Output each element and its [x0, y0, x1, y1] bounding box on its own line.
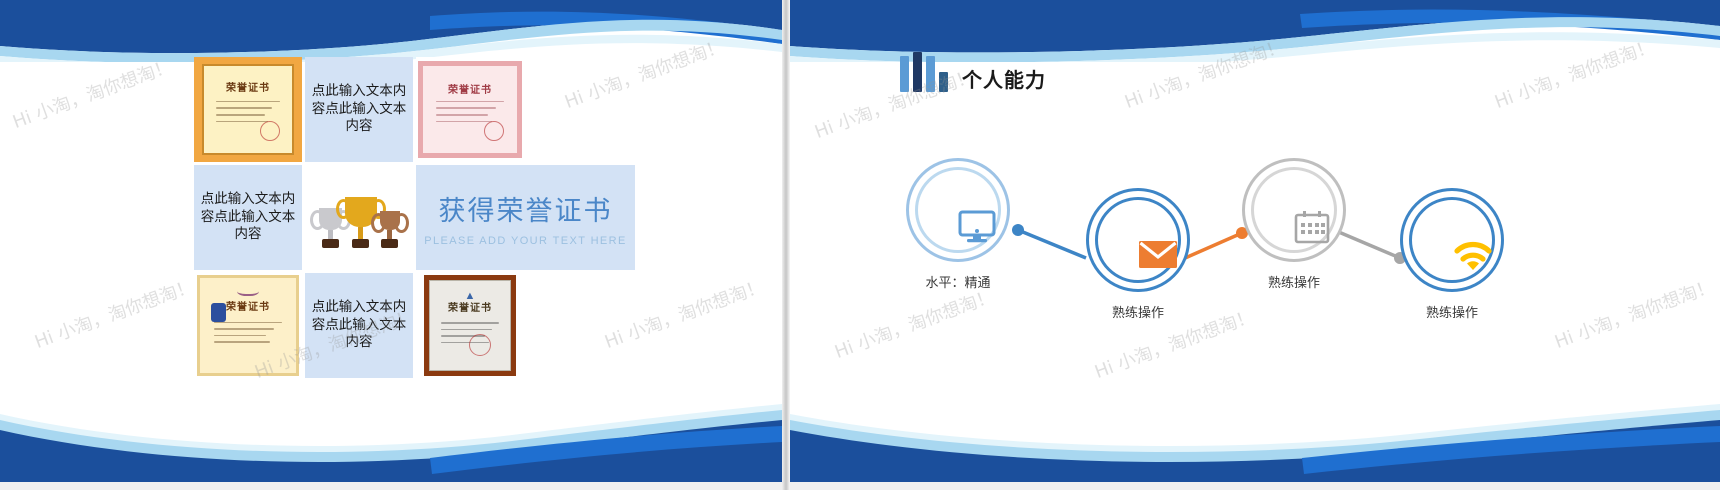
- top-wave-decoration: [0, 0, 782, 62]
- certificate-caption: 荣誉证书: [204, 79, 293, 94]
- bottom-wave-decoration: [790, 358, 1720, 490]
- section-header: 个人能力: [900, 52, 1046, 92]
- slide-personal-ability: 个人能力: [790, 0, 1720, 490]
- presentation-stage: 荣誉证书 点此输入文本内容点此输入文本内容 荣誉证书 点此输入文本内容点此输入文…: [0, 0, 1720, 490]
- slide-honor-certificates: 荣誉证书 点此输入文本内容点此输入文本内容 荣誉证书 点此输入文本内容点此输入文…: [0, 0, 782, 490]
- ability-node-monitor-label: 水平：精通: [886, 272, 1030, 291]
- text-placeholder-3-label: 点此输入文本内容点此输入文本内容: [311, 299, 407, 352]
- certificate-caption: 荣誉证书: [200, 298, 296, 313]
- text-placeholder-1[interactable]: 点此输入文本内容点此输入文本内容: [305, 57, 413, 162]
- ability-flow-diagram: 水平：精通 熟练操作: [790, 140, 1720, 370]
- trophy-bronze: [380, 211, 400, 248]
- bar-chart-icon: [900, 52, 948, 92]
- headline-block: 获得荣誉证书 PLEASE ADD YOUR TEXT HERE: [416, 165, 635, 270]
- certificate-pink: 荣誉证书: [416, 57, 524, 162]
- text-placeholder-1-label: 点此输入文本内容点此输入文本内容: [311, 83, 407, 136]
- ability-node-calendar-label: 熟练操作: [1222, 272, 1366, 291]
- headline-title: 获得荣誉证书: [439, 189, 613, 228]
- watermark: Hi 小淘，淘你想淘！: [31, 272, 198, 354]
- ability-node-wifi[interactable]: [1400, 188, 1504, 292]
- text-placeholder-2-label: 点此输入文本内容点此输入文本内容: [200, 191, 296, 244]
- watermark: Hi 小淘，淘你想淘！: [9, 52, 176, 134]
- text-placeholder-2[interactable]: 点此输入文本内容点此输入文本内容: [194, 165, 302, 270]
- grid-blank-2: [527, 273, 635, 378]
- crest-ornament: [237, 284, 259, 296]
- certificate-brown: ▲ 荣誉证书: [416, 273, 524, 378]
- certificate-caption: 荣誉证书: [430, 299, 511, 314]
- text-placeholder-3[interactable]: 点此输入文本内容点此输入文本内容: [305, 273, 413, 378]
- page-title: 个人能力: [962, 70, 1046, 92]
- slide-divider: [782, 0, 790, 490]
- headline-subtitle: PLEASE ADD YOUR TEXT HERE: [424, 235, 627, 247]
- seal-stamp: [469, 334, 491, 356]
- grid-blank-1: [527, 57, 635, 162]
- ability-node-wifi-label: 熟练操作: [1380, 302, 1524, 321]
- ability-node-calendar[interactable]: [1242, 158, 1346, 262]
- certificate-grid: 荣誉证书 点此输入文本内容点此输入文本内容 荣誉证书 点此输入文本内容点此输入文…: [194, 57, 635, 378]
- ability-node-envelope[interactable]: [1086, 188, 1190, 292]
- seal-stamp: [484, 121, 504, 141]
- ability-node-envelope-label: 熟练操作: [1066, 302, 1210, 321]
- certificate-yellow: 荣誉证书: [194, 273, 302, 378]
- ability-node-monitor[interactable]: [906, 158, 1010, 262]
- trophies-image: [305, 165, 413, 270]
- seal-stamp: [260, 121, 280, 141]
- certificate-caption: 荣誉证书: [423, 81, 518, 96]
- watermark: Hi 小淘，淘你想淘！: [1121, 32, 1288, 114]
- watermark: Hi 小淘，淘你想淘！: [1491, 32, 1658, 114]
- certificate-orange: 荣誉证书: [194, 57, 302, 162]
